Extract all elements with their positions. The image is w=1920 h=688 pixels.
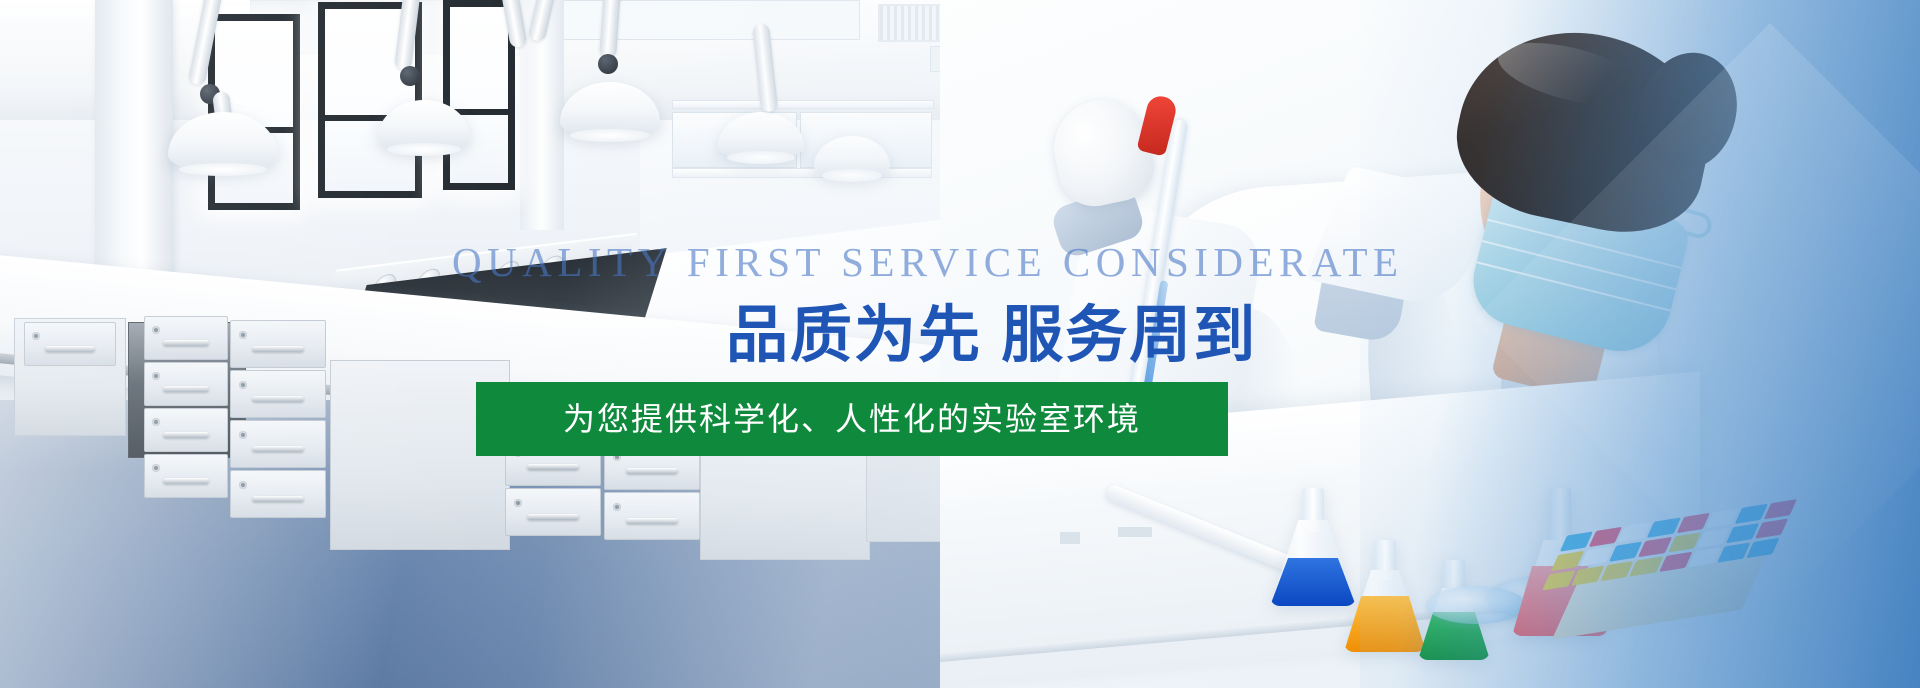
wall-shelf — [672, 100, 934, 109]
label-marker — [1118, 527, 1152, 537]
lab-hero-banner: QUALITY FIRST SERVICE CONSIDERATE 品质为先 服… — [0, 0, 1920, 688]
cabinet-drawer — [230, 470, 326, 518]
wall-shelf — [672, 168, 932, 178]
cabinet-drawer — [505, 488, 601, 536]
english-tagline: QUALITY FIRST SERVICE CONSIDERATE — [452, 242, 1404, 283]
cabinet-drawer — [144, 316, 228, 360]
cabinet-drawer — [144, 454, 228, 498]
cabinet-drawer — [230, 370, 326, 418]
cabinet-drawer — [604, 492, 700, 540]
cabinet-drawer — [144, 362, 228, 406]
lamp-joint — [400, 66, 420, 86]
window — [443, 0, 515, 190]
cabinet-drawer — [144, 408, 228, 452]
lamp-joint — [598, 54, 618, 74]
page-title: 品质为先 服务周到 — [726, 303, 1257, 370]
blue-gradient-overlay — [1360, 0, 1920, 688]
cabinet-drawer — [230, 320, 326, 368]
cabinet-drawer — [230, 420, 326, 468]
subheadline-green-bar: 为您提供科学化、人性化的实验室环境 — [476, 382, 1228, 456]
label-marker — [1060, 532, 1080, 544]
cabinet-drawer — [24, 322, 116, 366]
gradient-facet — [1473, 23, 1920, 617]
subheadline-text: 为您提供科学化、人性化的实验室环境 — [563, 403, 1141, 435]
